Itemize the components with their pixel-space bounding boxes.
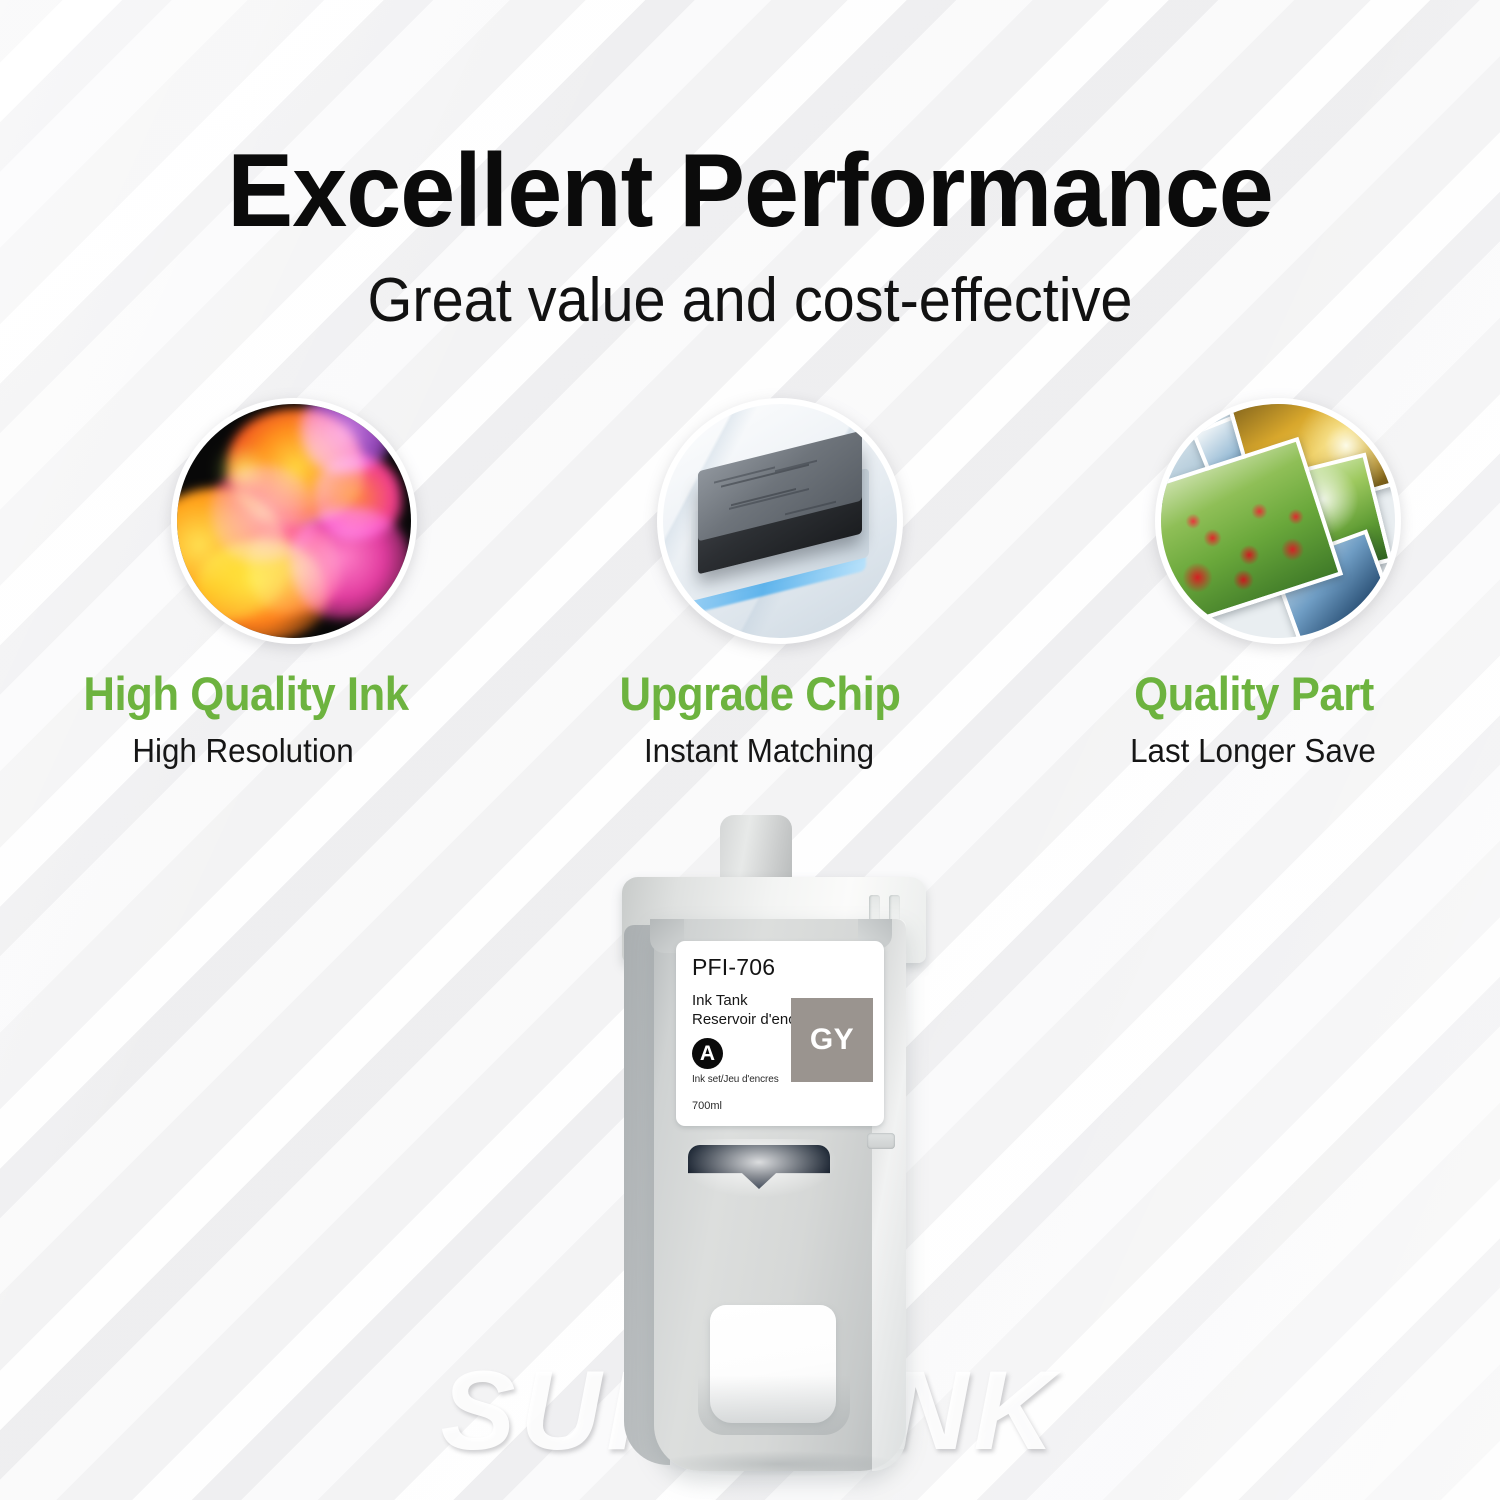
label-volume: 700ml xyxy=(692,1100,722,1112)
feature-icon-frame-1 xyxy=(171,398,417,644)
label-color-code: GY xyxy=(810,1023,854,1057)
feature-subtitle-3: Last Longer Save xyxy=(1016,732,1491,770)
feature-row: High Quality Ink High Resolution Upgrade… xyxy=(0,398,1500,798)
photo-collage-image xyxy=(1161,404,1395,638)
cartridge-label: PFI-706 Ink Tank Reservoir d'encre A Ink… xyxy=(676,941,884,1126)
product-infographic-page: Excellent Performance Great value and co… xyxy=(0,0,1500,1500)
feature-upgrade-chip: Upgrade Chip Instant Matching xyxy=(500,398,1000,798)
feature-icon-frame-3 xyxy=(1155,398,1401,644)
label-ink-set-caption: Ink set/Jeu d'encres xyxy=(692,1074,779,1085)
feature-title-1: High Quality Ink xyxy=(14,666,479,721)
feature-title-2: Upgrade Chip xyxy=(528,666,993,721)
label-model-number: PFI-706 xyxy=(692,954,775,981)
feature-high-quality-ink: High Quality Ink High Resolution xyxy=(0,398,500,798)
feature-title-3: Quality Part xyxy=(1022,666,1487,721)
ink-cartridge-product-image: PFI-706 Ink Tank Reservoir d'encre A Ink… xyxy=(614,815,926,1487)
feature-icon-frame-2 xyxy=(657,398,903,644)
feature-quality-part: Quality Part Last Longer Save xyxy=(1000,398,1500,798)
ink-set-a-icon: A xyxy=(692,1038,723,1069)
label-type-en: Ink Tank xyxy=(692,992,748,1009)
cartridge-chip-tab xyxy=(867,1133,895,1149)
ink-splash-image xyxy=(177,404,411,638)
page-subtitle: Great value and cost-effective xyxy=(53,268,1448,335)
page-title: Excellent Performance xyxy=(38,136,1463,246)
label-color-swatch: GY xyxy=(791,998,873,1082)
cartridge-drop-shadow xyxy=(658,1451,898,1477)
feature-subtitle-1: High Resolution xyxy=(6,732,481,770)
cartridge-base-recess xyxy=(710,1305,836,1423)
microchip-image xyxy=(663,404,897,638)
feature-subtitle-2: Instant Matching xyxy=(522,732,997,770)
